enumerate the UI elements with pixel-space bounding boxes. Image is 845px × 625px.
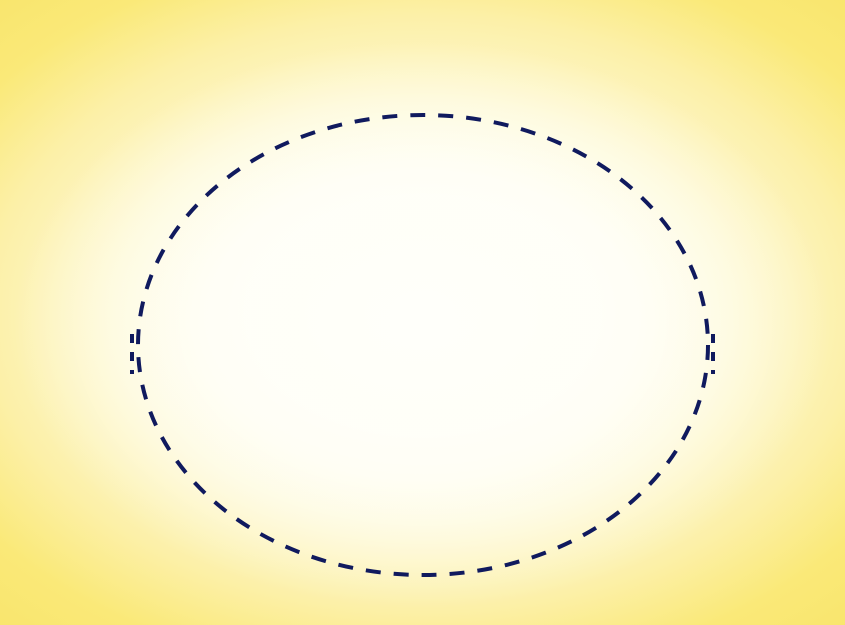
dashed-ellipse [138, 115, 708, 575]
connector-ellipse-layer [0, 0, 845, 625]
slide-canvas: モータースポーツから生まれる共生社会 ＜ドリフト＞ ＜グリップ＞ ＜ドレスアップ… [0, 0, 845, 625]
